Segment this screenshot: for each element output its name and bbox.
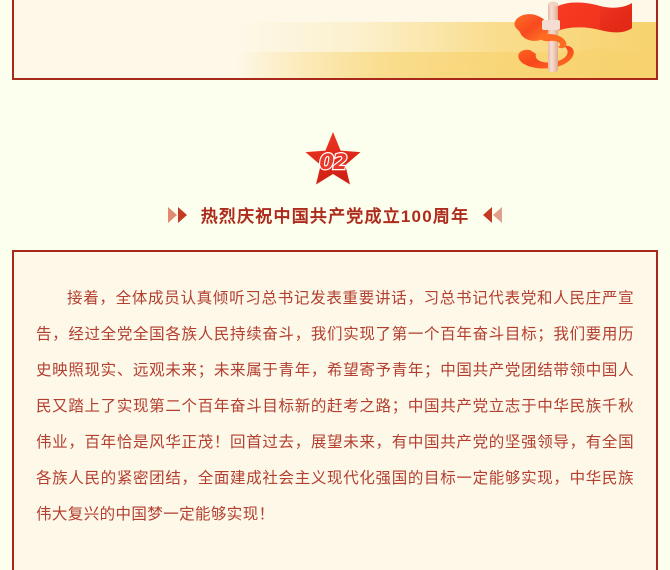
header-banner-box <box>12 0 658 80</box>
red-flag-banner-icon <box>508 0 638 74</box>
section-heading: 热烈庆祝中国共产党成立100周年 <box>0 202 670 227</box>
double-left-triangle-icon <box>483 207 502 223</box>
article-paragraph: 接着，全体成员认真倾听习总书记发表重要讲话，习总书记代表党和人民庄严宣告，经过全… <box>36 280 634 532</box>
article-content-box: 接着，全体成员认真倾听习总书记发表重要讲话，习总书记代表党和人民庄严宣告，经过全… <box>12 250 658 570</box>
double-right-triangle-icon <box>168 207 187 223</box>
section-number: 02 <box>303 150 363 174</box>
article-page: 02 热烈庆祝中国共产党成立100周年 接着，全体成员认真倾听习总书记发表重要讲… <box>0 0 670 558</box>
page-title: 热烈庆祝中国共产党成立100周年 <box>201 202 470 227</box>
section-number-badge: 02 <box>303 130 363 186</box>
